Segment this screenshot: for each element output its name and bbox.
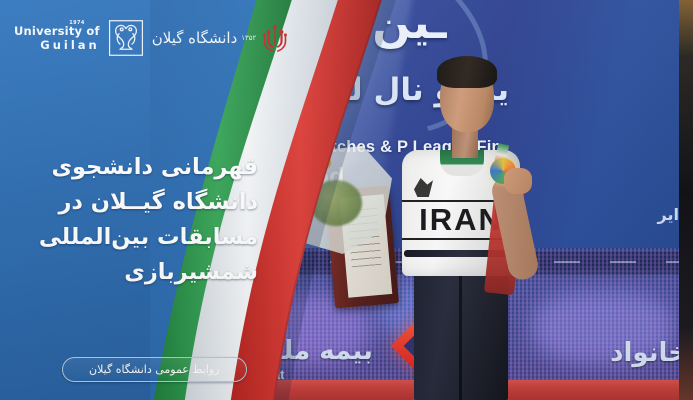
logo-persian-text: ۱۳۵۲ دانشگاه گیلان [152,29,257,47]
left-text-panel: 1974 University of Guilan ۱۳۵۲ دان [0,0,300,400]
logo-english-text: 1974 University of Guilan [14,25,100,52]
logo-year-english: 1974 [69,20,85,26]
backdrop-persian-iran-label: ایر [658,205,679,224]
public-relations-badge[interactable]: روابط عمومی دانشگاه گیلان [62,357,247,382]
university-news-banner: ـین المللـ یت و نال لیگ برتر Satellite M… [0,0,693,400]
logo-line-guilan: Guilan [40,38,99,52]
bouquet-foliage [310,180,362,226]
right-edge-strip [679,0,693,400]
athlete-hair [437,56,497,88]
headline-text: قهرمانی دانشجوی دانشگاه گیــلان در مسابق… [26,150,258,290]
sponsor-right-label: خانواد [610,338,687,368]
logo-line-university: University of [14,25,100,38]
university-logo[interactable]: 1974 University of Guilan ۱۳۵۲ دان [14,18,256,58]
guilan-university-crest-icon [107,18,145,58]
bouquet-flower-b [318,156,331,169]
athlete-hand [504,168,532,194]
logo-year-persian: ۱۳۵۲ [241,34,256,42]
logo-name-persian: دانشگاه گیلان [152,29,238,47]
